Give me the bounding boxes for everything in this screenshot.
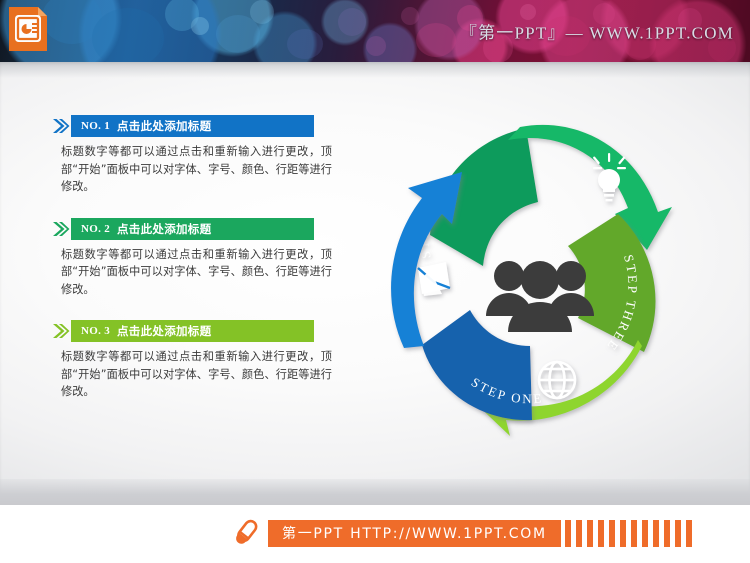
footer-content: 第一PPT HTTP://WWW.1PPT.COM (228, 517, 697, 549)
footer-banner: 第一PPT HTTP://WWW.1PPT.COM (0, 505, 750, 563)
block-3-number: NO. 3 (81, 325, 110, 337)
canvas-bottom-band (0, 479, 750, 505)
block-2-body: 标题数字等都可以通过点击和重新输入进行更改，顶部“开始”面板中可以对字体、字号、… (52, 246, 332, 299)
block-1-title-bar: NO. 1 点击此处添加标题 (71, 115, 314, 137)
block-1-body: 标题数字等都可以通过点击和重新输入进行更改，顶部“开始”面板中可以对字体、字号、… (52, 143, 332, 196)
globe-icon (539, 362, 575, 398)
block-2-title: 点击此处添加标题 (117, 221, 211, 237)
canvas-top-shadow (0, 62, 750, 78)
chevron-right-icon (52, 220, 70, 238)
slide-canvas: NO. 1 点击此处添加标题 标题数字等都可以通过点击和重新输入进行更改，顶部“… (0, 62, 750, 505)
powerpoint-logo-icon (8, 6, 48, 52)
block-1-title: 点击此处添加标题 (117, 118, 211, 134)
block-1-header: NO. 1 点击此处添加标题 (52, 115, 342, 137)
footer-url-bar[interactable]: 第一PPT HTTP://WWW.1PPT.COM (268, 520, 561, 547)
block-3-title: 点击此处添加标题 (117, 323, 211, 339)
block-2-header: NO. 2 点击此处添加标题 (52, 218, 342, 240)
pencil-icon (228, 517, 262, 549)
chevron-right-icon (52, 322, 70, 340)
block-3-title-bar: NO. 3 点击此处添加标题 (71, 320, 314, 342)
header-title: 『第一PPT』— WWW.1PPT.COM (460, 19, 734, 44)
block-1-number: NO. 1 (81, 120, 110, 132)
block-2-title-bar: NO. 2 点击此处添加标题 (71, 218, 314, 240)
header-banner: 『第一PPT』— WWW.1PPT.COM (0, 0, 750, 62)
chevron-right-icon (52, 117, 70, 135)
block-2-number: NO. 2 (81, 223, 110, 235)
envelope-icon (418, 262, 450, 296)
text-blocks-column: NO. 1 点击此处添加标题 标题数字等都可以通过点击和重新输入进行更改，顶部“… (52, 115, 342, 423)
people-group-icon (486, 261, 594, 332)
recycle-cycle-diagram: STEP TWO (390, 110, 690, 440)
text-block-2: NO. 2 点击此处添加标题 标题数字等都可以通过点击和重新输入进行更改，顶部“… (52, 218, 342, 299)
text-block-3: NO. 3 点击此处添加标题 标题数字等都可以通过点击和重新输入进行更改，顶部“… (52, 320, 342, 401)
text-block-1: NO. 1 点击此处添加标题 标题数字等都可以通过点击和重新输入进行更改，顶部“… (52, 115, 342, 196)
slide-root: 『第一PPT』— WWW.1PPT.COM NO. 1 点击此处添加标题 标题 (0, 0, 750, 563)
block-3-body: 标题数字等都可以通过点击和重新输入进行更改，顶部“开始”面板中可以对字体、字号、… (52, 348, 332, 401)
footer-stripes (565, 520, 697, 547)
block-3-header: NO. 3 点击此处添加标题 (52, 320, 342, 342)
